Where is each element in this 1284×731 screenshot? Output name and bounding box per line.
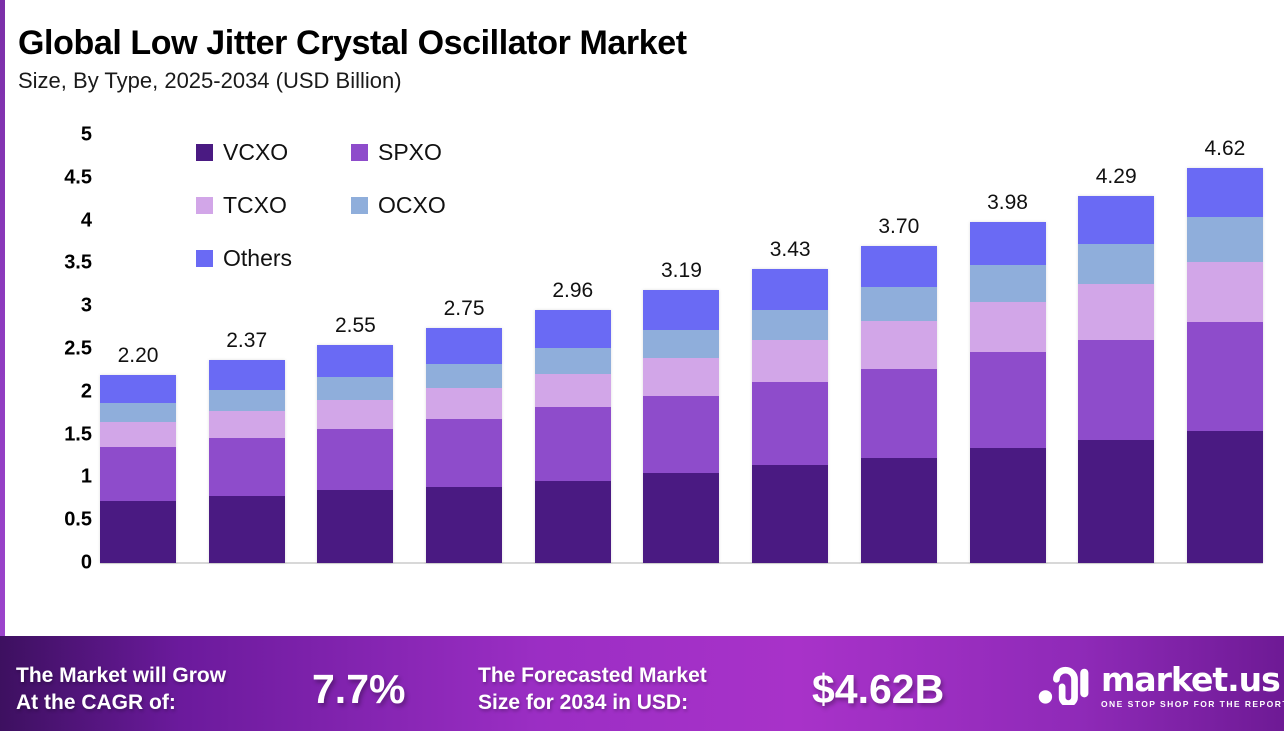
bar-segment-ocxo[interactable] <box>535 348 611 374</box>
legend-swatch-icon <box>351 144 368 161</box>
bar-segment-spxo[interactable] <box>100 447 176 502</box>
y-axis-tick: 2 <box>81 380 92 403</box>
logo-tagline: ONE STOP SHOP FOR THE REPORTS <box>1101 699 1284 709</box>
bar-segment-tcxo[interactable] <box>643 358 719 396</box>
bar-value-label: 2.75 <box>444 297 485 321</box>
legend-label: Others <box>223 247 292 270</box>
bar-column[interactable]: 3.70 <box>861 135 937 563</box>
bar-segment-vcxo[interactable] <box>535 481 611 563</box>
bar-segment-ocxo[interactable] <box>970 265 1046 302</box>
bar-value-label: 4.62 <box>1204 137 1245 161</box>
bar-segment-others[interactable] <box>1078 196 1154 244</box>
chart-infographic: Global Low Jitter Crystal Oscillator Mar… <box>0 0 1284 731</box>
bar-segment-tcxo[interactable] <box>426 388 502 420</box>
bar-segment-ocxo[interactable] <box>861 287 937 320</box>
chart-area: 00.511.522.533.544.55 2.202.372.552.752.… <box>0 120 1284 620</box>
cagr-label-line2: At the CAGR of: <box>16 689 226 716</box>
bar-segment-vcxo[interactable] <box>100 501 176 563</box>
y-axis-tick: 1 <box>81 466 92 489</box>
bar-segment-vcxo[interactable] <box>426 487 502 563</box>
chart-header: Global Low Jitter Crystal Oscillator Mar… <box>18 22 687 96</box>
bar-stack[interactable] <box>209 360 285 563</box>
logo-mark-icon <box>1038 663 1092 705</box>
bar-stack[interactable] <box>861 246 937 563</box>
bar-segment-spxo[interactable] <box>861 369 937 458</box>
bar-column[interactable]: 4.29 <box>1078 135 1154 563</box>
bar-segment-tcxo[interactable] <box>970 302 1046 352</box>
logo-wordmark: market.us <box>1101 663 1284 696</box>
forecast-size-label-line2: Size for 2034 in USD: <box>478 689 707 716</box>
page-subtitle: Size, By Type, 2025-2034 (USD Billion) <box>18 66 687 96</box>
bar-value-label: 3.19 <box>661 259 702 283</box>
bar-segment-tcxo[interactable] <box>1078 284 1154 340</box>
y-axis-tick: 2.5 <box>64 338 92 361</box>
bar-segment-ocxo[interactable] <box>100 403 176 422</box>
legend-swatch-icon <box>351 197 368 214</box>
bar-segment-ocxo[interactable] <box>752 310 828 341</box>
bar-stack[interactable] <box>535 310 611 563</box>
legend-item-ocxo[interactable]: OCXO <box>351 189 506 221</box>
y-axis-tick: 4.5 <box>64 166 92 189</box>
chart-legend: VCXOSPXOTCXOOCXOOthers <box>196 136 626 295</box>
bar-segment-spxo[interactable] <box>535 407 611 481</box>
legend-label: TCXO <box>223 194 287 217</box>
bar-segment-vcxo[interactable] <box>1078 440 1154 563</box>
bar-value-label: 2.20 <box>118 344 159 368</box>
bar-segment-vcxo[interactable] <box>752 465 828 563</box>
bar-value-label: 2.37 <box>226 329 267 353</box>
bar-segment-tcxo[interactable] <box>317 400 393 429</box>
bar-segment-ocxo[interactable] <box>209 390 285 411</box>
bar-column[interactable]: 3.43 <box>752 135 828 563</box>
bar-segment-vcxo[interactable] <box>209 496 285 563</box>
bar-column[interactable]: 3.19 <box>643 135 719 563</box>
summary-banner: The Market will Grow At the CAGR of: 7.7… <box>0 636 1284 731</box>
bar-segment-vcxo[interactable] <box>643 473 719 563</box>
bar-segment-vcxo[interactable] <box>970 448 1046 563</box>
bar-segment-ocxo[interactable] <box>426 364 502 388</box>
bar-segment-spxo[interactable] <box>426 419 502 487</box>
legend-item-tcxo[interactable]: TCXO <box>196 189 351 221</box>
bar-segment-ocxo[interactable] <box>317 377 393 399</box>
legend-item-spxo[interactable]: SPXO <box>351 136 506 168</box>
bar-segment-spxo[interactable] <box>1187 322 1263 432</box>
y-axis-tick: 3 <box>81 295 92 318</box>
bar-segment-ocxo[interactable] <box>643 330 719 358</box>
y-axis-tick: 5 <box>81 124 92 147</box>
bar-segment-others[interactable] <box>1187 168 1263 218</box>
bar-segment-others[interactable] <box>426 328 502 364</box>
y-axis: 00.511.522.533.544.55 <box>40 120 92 570</box>
legend-label: OCXO <box>378 194 446 217</box>
bar-stack[interactable] <box>1187 168 1263 563</box>
bar-column[interactable]: 3.98 <box>970 135 1046 563</box>
y-axis-tick: 3.5 <box>64 252 92 275</box>
bar-stack[interactable] <box>426 328 502 563</box>
bar-segment-spxo[interactable] <box>970 352 1046 449</box>
bar-segment-tcxo[interactable] <box>1187 262 1263 322</box>
y-axis-tick: 0 <box>81 552 92 575</box>
y-axis-tick: 0.5 <box>64 509 92 532</box>
bar-column[interactable]: 2.20 <box>100 135 176 563</box>
bar-segment-tcxo[interactable] <box>752 340 828 382</box>
bar-segment-others[interactable] <box>970 222 1046 265</box>
cagr-value: 7.7% <box>312 669 405 710</box>
bar-segment-others[interactable] <box>317 345 393 378</box>
bar-value-label: 3.98 <box>987 191 1028 215</box>
bar-stack[interactable] <box>970 222 1046 563</box>
bar-segment-tcxo[interactable] <box>861 321 937 369</box>
bar-stack[interactable] <box>100 375 176 563</box>
y-axis-tick: 1.5 <box>64 423 92 446</box>
forecast-size-label: The Forecasted Market Size for 2034 in U… <box>478 662 707 716</box>
legend-swatch-icon <box>196 144 213 161</box>
bar-segment-others[interactable] <box>209 360 285 390</box>
bar-segment-others[interactable] <box>861 246 937 287</box>
bar-segment-spxo[interactable] <box>643 396 719 473</box>
bar-value-label: 3.43 <box>770 238 811 262</box>
bar-segment-vcxo[interactable] <box>861 458 937 563</box>
bar-column[interactable]: 4.62 <box>1187 135 1263 563</box>
forecast-size-value: $4.62B <box>812 669 944 710</box>
bar-stack[interactable] <box>643 290 719 563</box>
bar-value-label: 3.70 <box>878 215 919 239</box>
bar-segment-others[interactable] <box>643 290 719 330</box>
cagr-label: The Market will Grow At the CAGR of: <box>16 662 226 716</box>
legend-item-others[interactable]: Others <box>196 242 351 274</box>
bar-stack[interactable] <box>752 269 828 563</box>
bar-segment-tcxo[interactable] <box>535 374 611 407</box>
bar-segment-tcxo[interactable] <box>209 411 285 438</box>
bar-segment-others[interactable] <box>535 310 611 349</box>
bar-value-label: 2.55 <box>335 314 376 338</box>
bar-segment-spxo[interactable] <box>1078 340 1154 440</box>
bar-segment-ocxo[interactable] <box>1187 217 1263 262</box>
legend-label: VCXO <box>223 141 288 164</box>
legend-item-vcxo[interactable]: VCXO <box>196 136 351 168</box>
bar-value-label: 4.29 <box>1096 165 1137 189</box>
legend-label: SPXO <box>378 141 442 164</box>
bar-segment-spxo[interactable] <box>752 382 828 465</box>
bar-segment-others[interactable] <box>100 375 176 403</box>
bar-segment-spxo[interactable] <box>209 438 285 496</box>
y-axis-tick: 4 <box>81 209 92 232</box>
bar-segment-ocxo[interactable] <box>1078 244 1154 284</box>
market-us-logo[interactable]: market.us ONE STOP SHOP FOR THE REPORTS <box>1038 663 1284 709</box>
page-title: Global Low Jitter Crystal Oscillator Mar… <box>18 22 687 64</box>
bar-segment-spxo[interactable] <box>317 429 393 491</box>
bar-segment-others[interactable] <box>752 269 828 309</box>
bar-segment-vcxo[interactable] <box>1187 431 1263 563</box>
legend-swatch-icon <box>196 250 213 267</box>
cagr-label-line1: The Market will Grow <box>16 662 226 689</box>
legend-swatch-icon <box>196 197 213 214</box>
bar-stack[interactable] <box>1078 196 1154 563</box>
bar-segment-tcxo[interactable] <box>100 422 176 447</box>
bar-segment-vcxo[interactable] <box>317 490 393 563</box>
forecast-size-label-line1: The Forecasted Market <box>478 662 707 689</box>
bar-stack[interactable] <box>317 345 393 563</box>
